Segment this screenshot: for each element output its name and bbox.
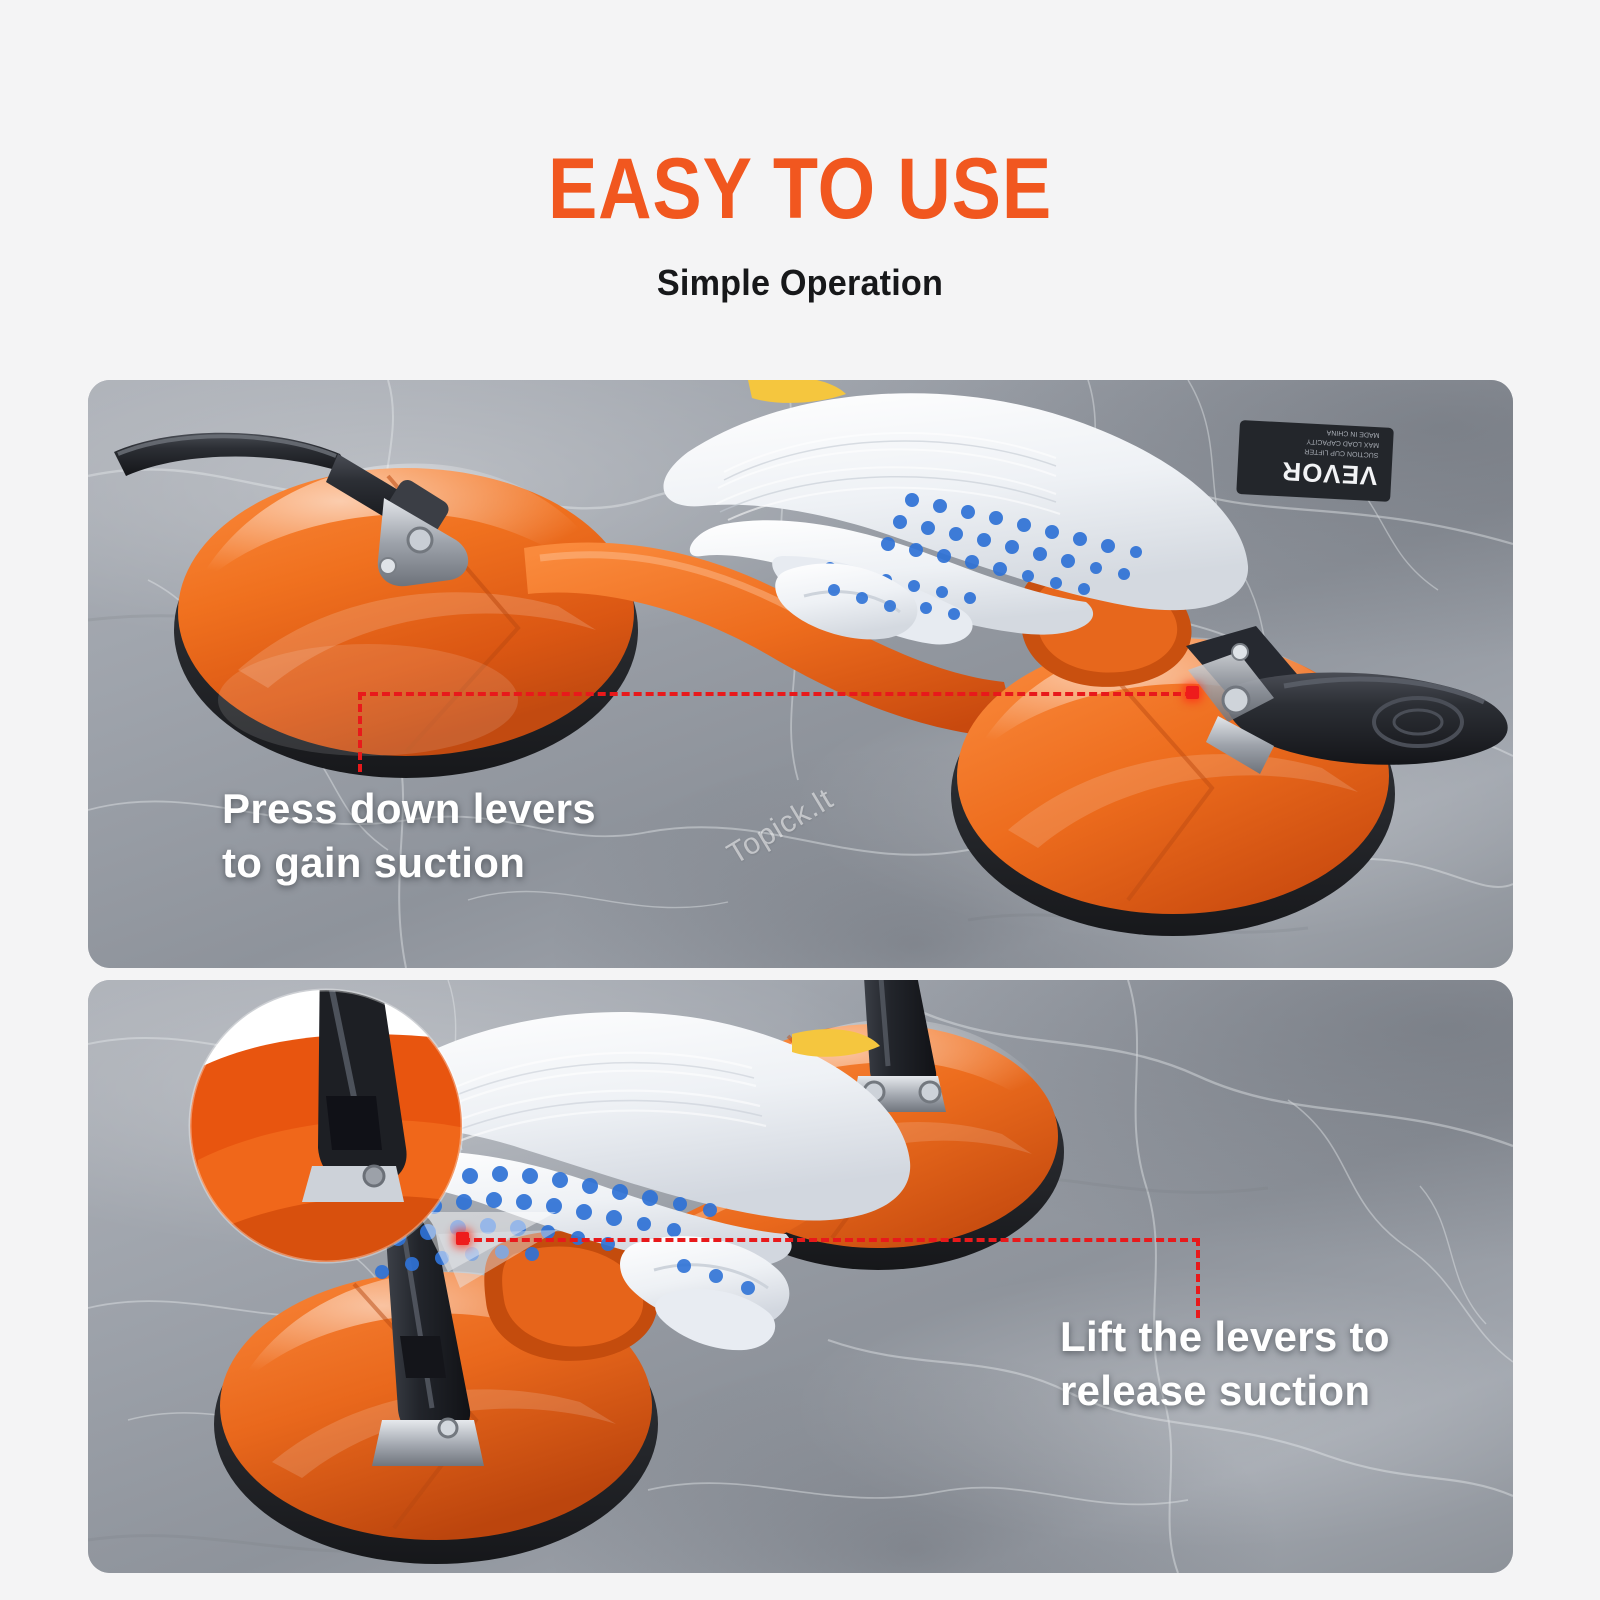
infographic-page: EASY TO USE Simple Operation <box>0 0 1600 1600</box>
page-subtitle: Simple Operation <box>40 262 1560 304</box>
callout-line-horizontal-2 <box>462 1238 1200 1242</box>
page-title: EASY TO USE <box>112 142 1488 236</box>
caption-lift-levers: Lift the levers to release suction <box>1060 1310 1390 1418</box>
lever-handle-right <box>1186 626 1508 774</box>
header: EASY TO USE Simple Operation <box>0 0 1600 304</box>
step-panel-press-down: VEVOR SUCTION CUP LIFTER MAX LOAD CAPACI… <box>88 380 1513 968</box>
svg-text:VEVOR: VEVOR <box>1281 456 1378 491</box>
callout-dot-1 <box>1186 686 1199 699</box>
step-panel-lift-levers: Lift the levers to release suction <box>88 980 1513 1573</box>
vevor-label: VEVOR SUCTION CUP LIFTER MAX LOAD CAPACI… <box>1236 420 1394 502</box>
callout-line-vertical-2 <box>1196 1238 1200 1318</box>
callout-line-vertical-1 <box>358 692 362 772</box>
callout-line-horizontal-1 <box>358 692 1193 696</box>
callout-dot-2 <box>456 1232 469 1245</box>
caption-press-down: Press down levers to gain suction <box>222 782 596 890</box>
product-scene-2 <box>88 980 1513 1573</box>
